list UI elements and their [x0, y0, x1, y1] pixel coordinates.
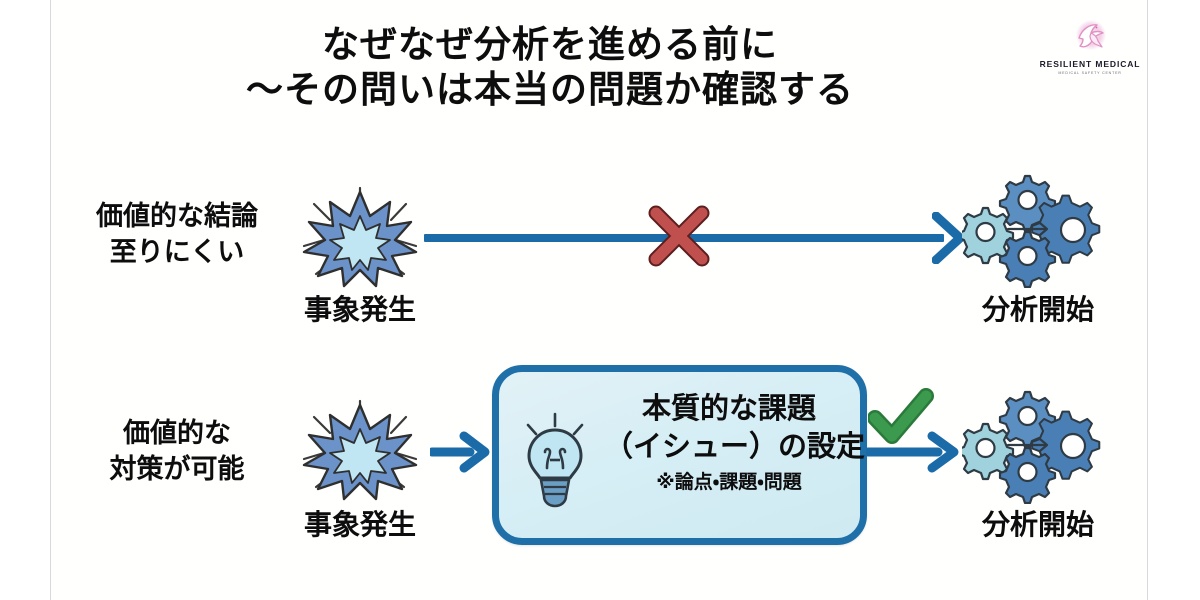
row-good-side-label: 価値的な 対策が可能: [62, 415, 292, 487]
issue-line-2: （イシュー）の設定: [604, 428, 854, 466]
row-bad-result-label: 分析開始: [960, 288, 1116, 328]
burst-icon: [292, 395, 428, 505]
row-bad-side-label-line1: 価値的な結論: [62, 198, 292, 234]
row-good-event-icon: [292, 395, 428, 510]
row-good-event-label: 事象発生: [282, 503, 438, 543]
title-line-1: なぜなぜ分析を進める前に: [50, 22, 1050, 67]
lightbulb-icon: [517, 410, 593, 514]
logo-mark: [1035, 18, 1145, 58]
issue-box: 本質的な課題 （イシュー）の設定 ※論点・課題・問題: [492, 365, 867, 545]
page-title: なぜなぜ分析を進める前に 〜その問いは本当の問題か確認する: [50, 22, 1050, 112]
dove-icon: [1073, 18, 1107, 54]
issue-line-1: 本質的な課題: [604, 390, 854, 428]
row-bad-result-icon: [962, 172, 1108, 293]
brand-logo: RESILIENT MEDICAL MEDICAL SAFETY CENTER: [1035, 18, 1145, 90]
slide-root: なぜなぜ分析を進める前に 〜その問いは本当の問題か確認する RESILIENT …: [0, 0, 1200, 600]
row-good-check-icon: [868, 388, 934, 450]
row-bad-side-label-line2: 至りにくい: [62, 234, 292, 270]
row-good-side-label-line1: 価値的な: [62, 415, 292, 451]
row-bad-event-icon: [292, 182, 428, 297]
issue-note: ※論点・課題・問題: [604, 468, 854, 498]
gears-icon: [962, 388, 1108, 504]
row-bad-side-label: 価値的な結論 至りにくい: [62, 198, 292, 270]
row-good-result-label: 分析開始: [960, 503, 1116, 543]
issue-box-text: 本質的な課題 （イシュー）の設定 ※論点・課題・問題: [604, 390, 854, 498]
title-line-2: 〜その問いは本当の問題か確認する: [50, 67, 1050, 112]
logo-name: RESILIENT MEDICAL: [1035, 59, 1145, 69]
logo-subtitle: MEDICAL SAFETY CENTER: [1035, 71, 1145, 75]
row-good-side-label-line2: 対策が可能: [62, 451, 292, 487]
gears-icon: [962, 172, 1108, 288]
row-good-arrow-1: [430, 428, 492, 476]
row-bad-cross-icon: [643, 200, 715, 272]
row-good-result-icon: [962, 388, 1108, 509]
row-bad-event-label: 事象発生: [282, 288, 438, 328]
burst-icon: [292, 182, 428, 292]
